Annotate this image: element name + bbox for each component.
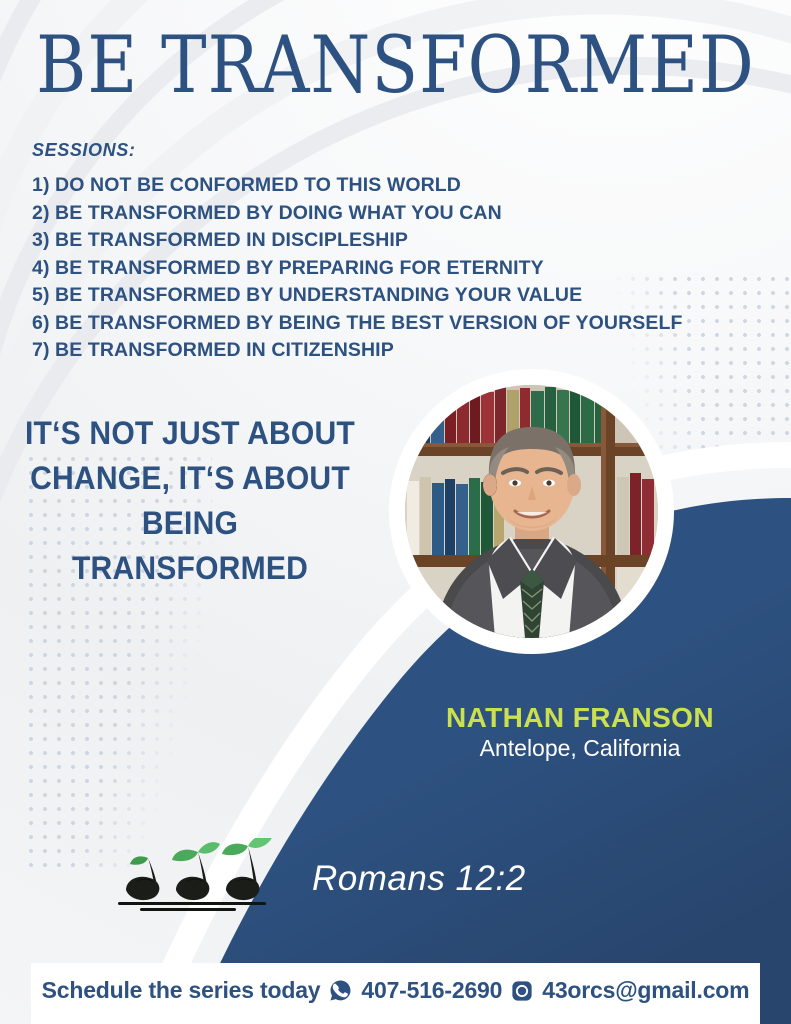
tagline: IT‘S NOT JUST ABOUT CHANGE, IT‘S ABOUT B… — [21, 411, 359, 591]
flyer-page: BE TRANSFORMED SESSIONS: 1) DO NOT BE CO… — [0, 0, 791, 1024]
three-sprouting-seeds-logo — [118, 838, 298, 918]
session-item: 7) BE TRANSFORMED IN CITIZENSHIP — [32, 337, 683, 365]
tagline-line-1: IT‘S NOT JUST ABOUT — [21, 411, 359, 456]
footer-phone-number[interactable]: 407-516-2690 — [361, 977, 502, 1004]
avatar — [405, 385, 658, 638]
sessions-list: 1) DO NOT BE CONFORMED TO THIS WORLD 2) … — [32, 172, 683, 365]
instagram-square-icon — [511, 980, 533, 1002]
speaker-photo-frame — [389, 369, 674, 654]
sessions-label: SESSIONS: — [32, 140, 135, 161]
session-item: 2) BE TRANSFORMED BY DOING WHAT YOU CAN — [32, 200, 683, 228]
session-item: 1) DO NOT BE CONFORMED TO THIS WORLD — [32, 172, 683, 200]
verse-reference: Romans 12:2 — [312, 859, 526, 899]
session-item: 3) BE TRANSFORMED IN DISCIPLESHIP — [32, 227, 683, 255]
tagline-line-2: CHANGE, IT‘S ABOUT — [21, 456, 359, 501]
page-title: BE TRANSFORMED — [0, 26, 791, 105]
speaker-location: Antelope, California — [380, 735, 780, 762]
session-item: 6) BE TRANSFORMED BY BEING THE BEST VERS… — [32, 310, 683, 338]
speaker-portrait-image — [405, 385, 658, 638]
footer-contact-bar: Schedule the series today 407-516-2690 4… — [31, 963, 760, 1024]
tagline-line-3: BEING TRANSFORMED — [21, 501, 359, 591]
speaker-name: NATHAN FRANSON — [380, 702, 780, 734]
footer-email-address[interactable]: 43orcs@gmail.com — [542, 977, 749, 1004]
session-item: 4) BE TRANSFORMED BY PREPARING FOR ETERN… — [32, 255, 683, 283]
footer-cta-text: Schedule the series today — [42, 977, 321, 1004]
session-item: 5) BE TRANSFORMED BY UNDERSTANDING YOUR … — [32, 282, 683, 310]
whatsapp-phone-icon — [329, 979, 352, 1002]
